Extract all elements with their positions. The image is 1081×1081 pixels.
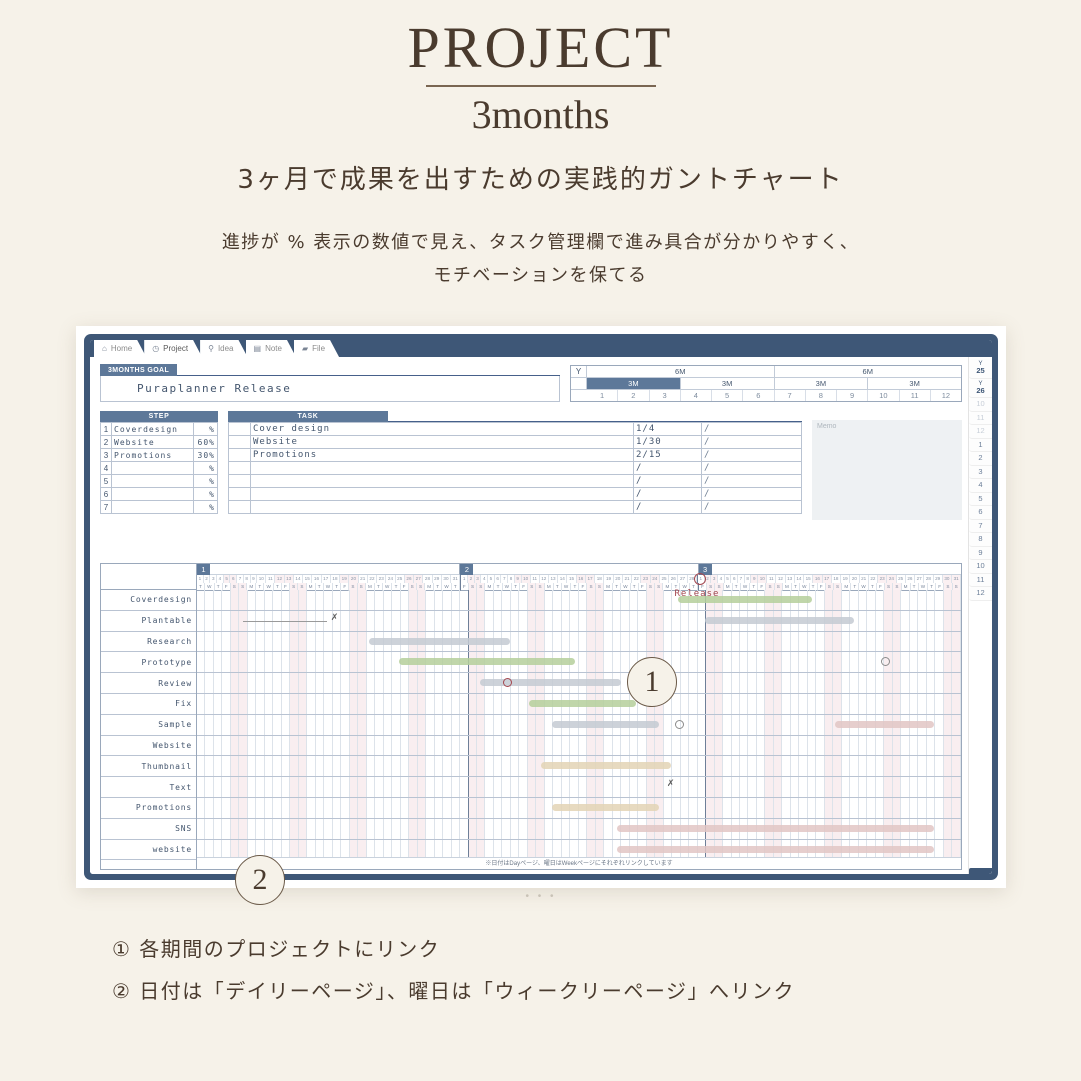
gantt-cell[interactable] <box>367 611 375 631</box>
gantt-cell[interactable] <box>528 777 536 797</box>
gantt-cell[interactable] <box>256 673 264 693</box>
gantt-cell[interactable] <box>935 715 943 735</box>
gantt-cell[interactable] <box>401 798 409 818</box>
gantt-cell[interactable] <box>570 819 578 839</box>
gantt-cell[interactable] <box>570 632 578 652</box>
gantt-cell[interactable] <box>842 673 850 693</box>
gantt-cell[interactable] <box>867 632 875 652</box>
gantt-cell[interactable] <box>502 798 510 818</box>
gantt-cell[interactable] <box>927 652 935 672</box>
gantt-cell[interactable] <box>367 777 375 797</box>
gantt-cell[interactable] <box>808 652 816 672</box>
side-tab-m8[interactable]: 8 <box>969 533 992 547</box>
gantt-day-number[interactable]: 8 <box>244 575 251 583</box>
gantt-cell[interactable] <box>222 632 230 652</box>
gantt-cell[interactable] <box>239 777 247 797</box>
gantt-cell[interactable] <box>876 736 884 756</box>
gantt-cell[interactable] <box>672 694 680 714</box>
gantt-day-number[interactable]: 1 <box>197 575 204 583</box>
tab-project[interactable]: ◷Project <box>144 340 202 357</box>
gantt-cell[interactable] <box>935 798 943 818</box>
gantt-cell[interactable] <box>621 777 629 797</box>
gantt-cell[interactable] <box>799 715 807 735</box>
gantt-cell[interactable] <box>367 798 375 818</box>
gantt-cell[interactable] <box>384 798 392 818</box>
gantt-cell[interactable] <box>715 652 723 672</box>
gantt-circle-marker[interactable] <box>881 657 890 666</box>
gantt-cell[interactable] <box>689 777 697 797</box>
period-half[interactable]: 6M <box>587 366 775 378</box>
gantt-cell[interactable] <box>927 694 935 714</box>
gantt-cell[interactable] <box>927 756 935 776</box>
gantt-bar[interactable] <box>705 617 854 624</box>
gantt-cell[interactable] <box>418 756 426 776</box>
gantt-cell[interactable] <box>256 632 264 652</box>
gantt-row-label[interactable]: Prototype <box>101 652 196 673</box>
gantt-cell[interactable] <box>418 736 426 756</box>
gantt-cell[interactable] <box>782 694 790 714</box>
gantt-cell[interactable] <box>723 673 731 693</box>
gantt-cell[interactable] <box>282 798 290 818</box>
gantt-day-number[interactable]: 30 <box>943 575 952 583</box>
gantt-cell[interactable] <box>418 673 426 693</box>
gantt-cell[interactable] <box>562 819 570 839</box>
gantt-cell[interactable] <box>375 756 383 776</box>
gantt-cell[interactable] <box>519 756 527 776</box>
gantt-cell[interactable] <box>757 736 765 756</box>
gantt-cell[interactable] <box>350 652 358 672</box>
gantt-cell[interactable] <box>239 694 247 714</box>
gantt-cell[interactable] <box>715 798 723 818</box>
gantt-cell[interactable] <box>494 611 502 631</box>
gantt-cell[interactable] <box>952 632 960 652</box>
gantt-cell[interactable] <box>808 694 816 714</box>
gantt-cell[interactable] <box>944 694 952 714</box>
gantt-cell[interactable] <box>435 798 443 818</box>
gantt-cell[interactable] <box>553 777 561 797</box>
gantt-cell[interactable] <box>205 652 213 672</box>
gantt-cell[interactable] <box>392 756 400 776</box>
gantt-cell[interactable] <box>401 590 409 610</box>
gantt-cell[interactable] <box>197 756 205 776</box>
gantt-bar[interactable] <box>617 825 934 832</box>
gantt-cell[interactable] <box>239 652 247 672</box>
gantt-cell[interactable] <box>825 777 833 797</box>
gantt-cell[interactable] <box>231 611 239 631</box>
gantt-day-number[interactable]: 6 <box>495 575 502 583</box>
gantt-cell[interactable] <box>299 652 307 672</box>
gantt-cell[interactable] <box>867 756 875 776</box>
gantt-cell[interactable] <box>460 694 468 714</box>
gantt-cell[interactable] <box>273 756 281 776</box>
gantt-cell[interactable] <box>638 736 646 756</box>
gantt-cell[interactable] <box>613 736 621 756</box>
gantt-cell[interactable] <box>689 611 697 631</box>
gantt-cell[interactable] <box>884 590 892 610</box>
gantt-cell[interactable] <box>774 632 782 652</box>
gantt-day-number[interactable]: 26 <box>669 575 678 583</box>
gantt-cell[interactable] <box>698 715 706 735</box>
gantt-cell[interactable] <box>587 652 595 672</box>
gantt-cell[interactable] <box>901 652 909 672</box>
gantt-cell[interactable] <box>706 736 714 756</box>
gantt-cell[interactable] <box>715 673 723 693</box>
gantt-cell[interactable] <box>494 756 502 776</box>
gantt-cell[interactable] <box>367 756 375 776</box>
gantt-cell[interactable] <box>324 694 332 714</box>
gantt-day-number[interactable]: 13 <box>285 575 294 583</box>
period-half[interactable]: 6M <box>775 366 962 378</box>
gantt-cell[interactable] <box>375 652 383 672</box>
gantt-cell[interactable] <box>613 590 621 610</box>
gantt-cell[interactable] <box>553 819 561 839</box>
tab-file[interactable]: ▰File <box>294 340 339 357</box>
tab-idea[interactable]: ⚲Idea <box>200 340 247 357</box>
gantt-day-number[interactable]: 3 <box>210 575 217 583</box>
gantt-cell[interactable] <box>918 798 926 818</box>
gantt-cell[interactable] <box>723 652 731 672</box>
gantt-day-number[interactable]: 14 <box>795 575 804 583</box>
gantt-cell[interactable] <box>273 590 281 610</box>
gantt-cell[interactable] <box>384 715 392 735</box>
gantt-day-number[interactable]: 14 <box>294 575 303 583</box>
gantt-cell[interactable] <box>358 798 366 818</box>
gantt-cell[interactable] <box>765 673 773 693</box>
gantt-day-number[interactable]: 23 <box>878 575 887 583</box>
gantt-cell[interactable] <box>197 673 205 693</box>
gantt-cell[interactable] <box>918 632 926 652</box>
gantt-cell[interactable] <box>519 632 527 652</box>
gantt-day-number[interactable]: 27 <box>915 575 924 583</box>
gantt-cell[interactable] <box>375 736 383 756</box>
gantt-cell[interactable] <box>222 798 230 818</box>
gantt-cell[interactable] <box>231 798 239 818</box>
gantt-cell[interactable] <box>545 632 553 652</box>
gantt-cell[interactable] <box>723 798 731 818</box>
gantt-cell[interactable] <box>358 777 366 797</box>
gantt-cell[interactable] <box>384 673 392 693</box>
gantt-day-number[interactable]: 10 <box>257 575 266 583</box>
gantt-cell[interactable] <box>850 736 858 756</box>
gantt-cell[interactable] <box>367 673 375 693</box>
gantt-cell[interactable] <box>748 715 756 735</box>
gantt-cell[interactable] <box>494 819 502 839</box>
gantt-month-number[interactable]: 1 <box>197 564 210 575</box>
gantt-cell[interactable] <box>850 590 858 610</box>
gantt-cell[interactable] <box>604 777 612 797</box>
gantt-cell[interactable] <box>825 632 833 652</box>
gantt-cell[interactable] <box>205 819 213 839</box>
gantt-cell[interactable] <box>418 694 426 714</box>
gantt-cell[interactable] <box>443 673 451 693</box>
gantt-cell[interactable] <box>706 694 714 714</box>
gantt-cell[interactable] <box>452 756 460 776</box>
gantt-day-number[interactable]: 22 <box>632 575 641 583</box>
gantt-cell[interactable] <box>477 736 485 756</box>
gantt-day-number[interactable]: 21 <box>359 575 368 583</box>
gantt-cell[interactable] <box>740 756 748 776</box>
gantt-cell[interactable] <box>460 777 468 797</box>
gantt-cell[interactable] <box>197 694 205 714</box>
gantt-cell[interactable] <box>536 632 544 652</box>
gantt-cell[interactable] <box>511 611 519 631</box>
gantt-cell[interactable] <box>307 715 315 735</box>
gantt-cell[interactable] <box>452 798 460 818</box>
gantt-cell[interactable] <box>214 798 222 818</box>
step-pct[interactable]: % <box>194 423 218 436</box>
gantt-cell[interactable] <box>816 652 824 672</box>
gantt-cell[interactable] <box>850 798 858 818</box>
gantt-cell[interactable] <box>910 590 918 610</box>
gantt-cell[interactable] <box>562 590 570 610</box>
gantt-cell[interactable] <box>511 715 519 735</box>
gantt-cell[interactable] <box>681 611 689 631</box>
gantt-row-label[interactable]: Review <box>101 673 196 694</box>
gantt-cell[interactable] <box>426 611 434 631</box>
gantt-cell[interactable] <box>401 694 409 714</box>
gantt-cell[interactable] <box>740 694 748 714</box>
gantt-cell[interactable] <box>791 632 799 652</box>
gantt-cell[interactable] <box>469 777 477 797</box>
gantt-cell[interactable] <box>681 756 689 776</box>
gantt-cell[interactable] <box>239 736 247 756</box>
period-month[interactable]: 12 <box>931 390 961 401</box>
gantt-cell[interactable] <box>409 590 417 610</box>
gantt-cell[interactable] <box>630 736 638 756</box>
gantt-cell[interactable] <box>867 652 875 672</box>
gantt-cell[interactable] <box>519 798 527 818</box>
gantt-cell[interactable] <box>732 715 740 735</box>
gantt-day-number[interactable]: 3 <box>475 575 482 583</box>
gantt-cell[interactable] <box>214 694 222 714</box>
gantt-cell[interactable] <box>859 736 867 756</box>
gantt-cell[interactable] <box>485 777 493 797</box>
gantt-cell[interactable] <box>494 590 502 610</box>
gantt-cell[interactable] <box>341 694 349 714</box>
gantt-day-number[interactable]: 18 <box>832 575 841 583</box>
gantt-cell[interactable] <box>893 694 901 714</box>
period-month[interactable]: 11 <box>900 390 931 401</box>
gantt-cell[interactable] <box>511 756 519 776</box>
gantt-cell[interactable] <box>494 736 502 756</box>
gantt-cell[interactable] <box>562 611 570 631</box>
gantt-cell[interactable] <box>443 611 451 631</box>
task-checkbox[interactable] <box>229 436 251 449</box>
gantt-cell[interactable] <box>307 590 315 610</box>
gantt-cell[interactable] <box>876 777 884 797</box>
gantt-cell[interactable] <box>324 819 332 839</box>
gantt-cell[interactable] <box>222 777 230 797</box>
gantt-day-number[interactable]: 17 <box>322 575 331 583</box>
gantt-x-marker[interactable]: ✗ <box>667 779 675 789</box>
gantt-cell[interactable] <box>282 590 290 610</box>
gantt-cell[interactable] <box>791 756 799 776</box>
gantt-cell[interactable] <box>299 777 307 797</box>
gantt-cell[interactable] <box>910 694 918 714</box>
gantt-cell[interactable] <box>511 819 519 839</box>
gantt-cell[interactable] <box>477 694 485 714</box>
gantt-cell[interactable] <box>469 611 477 631</box>
gantt-cell[interactable] <box>901 673 909 693</box>
gantt-cell[interactable] <box>214 777 222 797</box>
gantt-cell[interactable] <box>205 590 213 610</box>
gantt-cell[interactable] <box>748 798 756 818</box>
gantt-row-label[interactable]: Research <box>101 632 196 653</box>
gantt-cell[interactable] <box>689 798 697 818</box>
gantt-cell[interactable] <box>944 736 952 756</box>
gantt-cell[interactable] <box>231 715 239 735</box>
gantt-cell[interactable] <box>893 798 901 818</box>
gantt-day-number[interactable]: 25 <box>660 575 669 583</box>
gantt-cell[interactable] <box>833 590 841 610</box>
gantt-cell[interactable] <box>876 611 884 631</box>
gantt-cell[interactable] <box>273 736 281 756</box>
gantt-cell[interactable] <box>689 756 697 776</box>
gantt-cell[interactable] <box>197 632 205 652</box>
gantt-cell[interactable] <box>214 632 222 652</box>
gantt-cell[interactable] <box>927 590 935 610</box>
gantt-cell[interactable] <box>757 652 765 672</box>
gantt-cell[interactable] <box>435 673 443 693</box>
gantt-cell[interactable] <box>307 632 315 652</box>
gantt-cell[interactable] <box>732 632 740 652</box>
gantt-cell[interactable] <box>307 819 315 839</box>
gantt-cell[interactable] <box>689 694 697 714</box>
gantt-cell[interactable] <box>910 652 918 672</box>
step-name[interactable] <box>112 501 194 514</box>
task-date[interactable]: 1/4 <box>634 423 702 436</box>
gantt-row-label[interactable]: Thumbnail <box>101 756 196 777</box>
gantt-cell[interactable] <box>893 611 901 631</box>
period-month[interactable]: 2 <box>618 390 649 401</box>
gantt-cell[interactable] <box>528 715 536 735</box>
gantt-cell[interactable] <box>918 673 926 693</box>
gantt-cell[interactable] <box>282 715 290 735</box>
gantt-cell[interactable] <box>401 819 409 839</box>
gantt-cell[interactable] <box>698 736 706 756</box>
gantt-cell[interactable] <box>418 777 426 797</box>
gantt-cell[interactable] <box>689 652 697 672</box>
gantt-cell[interactable] <box>816 694 824 714</box>
gantt-cell[interactable] <box>418 590 426 610</box>
gantt-cell[interactable] <box>350 736 358 756</box>
gantt-cell[interactable] <box>927 611 935 631</box>
gantt-cell[interactable] <box>205 694 213 714</box>
gantt-cell[interactable] <box>545 819 553 839</box>
gantt-cell[interactable] <box>350 673 358 693</box>
gantt-cell[interactable] <box>782 715 790 735</box>
gantt-cell[interactable] <box>401 736 409 756</box>
gantt-cell[interactable] <box>927 736 935 756</box>
gantt-cell[interactable] <box>214 590 222 610</box>
gantt-cell[interactable] <box>816 715 824 735</box>
gantt-cell[interactable] <box>452 736 460 756</box>
gantt-cell[interactable] <box>375 694 383 714</box>
gantt-cell[interactable] <box>816 798 824 818</box>
side-tab-m10[interactable]: 10 <box>969 398 992 412</box>
gantt-cell[interactable] <box>748 673 756 693</box>
gantt-cell[interactable] <box>239 590 247 610</box>
task-extra[interactable]: / <box>702 462 802 475</box>
gantt-cell[interactable] <box>248 652 256 672</box>
gantt-bar[interactable] <box>552 804 659 811</box>
gantt-cell[interactable] <box>562 736 570 756</box>
gantt-day-number[interactable]: 6 <box>230 575 237 583</box>
gantt-cell[interactable] <box>706 673 714 693</box>
gantt-cell[interactable] <box>248 736 256 756</box>
gantt-row-label[interactable]: Website <box>101 736 196 757</box>
gantt-cell[interactable] <box>197 715 205 735</box>
gantt-cell[interactable] <box>443 798 451 818</box>
gantt-cell[interactable] <box>477 756 485 776</box>
side-tab-Y25[interactable]: Y25 <box>969 359 992 379</box>
gantt-cell[interactable] <box>884 694 892 714</box>
gantt-cell[interactable] <box>502 694 510 714</box>
gantt-day-number[interactable]: 30 <box>442 575 451 583</box>
gantt-cell[interactable] <box>273 652 281 672</box>
gantt-cell[interactable] <box>799 777 807 797</box>
gantt-cell[interactable] <box>256 756 264 776</box>
gantt-cell[interactable] <box>443 694 451 714</box>
gantt-cell[interactable] <box>825 652 833 672</box>
gantt-cell[interactable] <box>222 590 230 610</box>
gantt-cell[interactable] <box>502 715 510 735</box>
gantt-day-number[interactable]: 15 <box>567 575 576 583</box>
memo-box[interactable]: Memo <box>812 420 962 520</box>
gantt-cell[interactable] <box>392 611 400 631</box>
task-checkbox[interactable] <box>229 462 251 475</box>
gantt-cell[interactable] <box>477 611 485 631</box>
gantt-cell[interactable] <box>239 798 247 818</box>
period-month[interactable]: 1 <box>587 390 618 401</box>
gantt-cell[interactable] <box>833 777 841 797</box>
gantt-cell[interactable] <box>536 590 544 610</box>
side-tab-Y26[interactable]: Y26 <box>969 379 992 399</box>
gantt-cell[interactable] <box>265 819 273 839</box>
period-month[interactable]: 3 <box>650 390 681 401</box>
gantt-cell[interactable] <box>774 756 782 776</box>
gantt-cell[interactable] <box>282 673 290 693</box>
gantt-cell[interactable] <box>596 611 604 631</box>
gantt-bar[interactable] <box>529 700 636 707</box>
gantt-row-label[interactable]: SNS <box>101 819 196 840</box>
gantt-cell[interactable] <box>630 611 638 631</box>
gantt-cell[interactable] <box>384 819 392 839</box>
gantt-cell[interactable] <box>290 756 298 776</box>
gantt-cell[interactable] <box>613 632 621 652</box>
task-name[interactable] <box>251 462 634 475</box>
gantt-cell[interactable] <box>205 798 213 818</box>
gantt-bar[interactable] <box>835 721 934 728</box>
gantt-row-label[interactable]: Sample <box>101 715 196 736</box>
gantt-cell[interactable] <box>265 673 273 693</box>
gantt-cell[interactable] <box>239 819 247 839</box>
gantt-cell[interactable] <box>469 798 477 818</box>
gantt-cell[interactable] <box>825 798 833 818</box>
gantt-cell[interactable] <box>265 632 273 652</box>
gantt-cell[interactable] <box>952 777 960 797</box>
gantt-cell[interactable] <box>927 673 935 693</box>
gantt-cell[interactable] <box>732 756 740 776</box>
gantt-day-number[interactable]: 11 <box>767 575 776 583</box>
gantt-cell[interactable] <box>392 798 400 818</box>
side-tab-m2[interactable]: 2 <box>969 452 992 466</box>
gantt-cell[interactable] <box>324 715 332 735</box>
gantt-cell[interactable] <box>265 756 273 776</box>
gantt-cell[interactable] <box>901 756 909 776</box>
gantt-cell[interactable] <box>859 673 867 693</box>
gantt-day-number[interactable]: 29 <box>433 575 442 583</box>
